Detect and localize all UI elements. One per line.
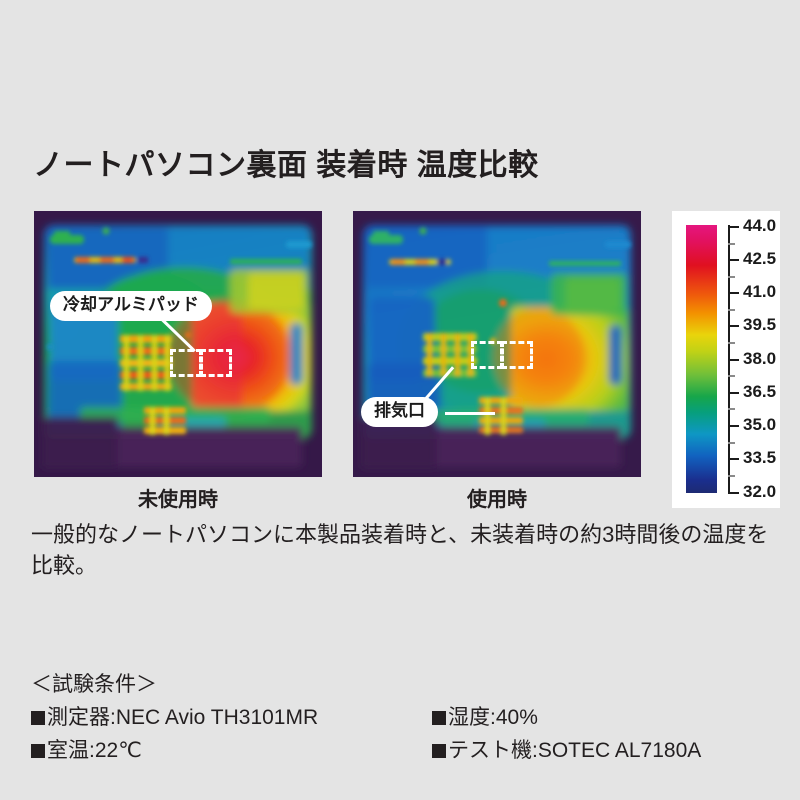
callout-exhaust-vent: 排気口: [361, 397, 438, 427]
scale-tick-38-0: [728, 359, 739, 361]
callout-cooling-pad: 冷却アルミパッド: [50, 291, 212, 321]
dashed-marker-in-use-a: [471, 341, 503, 369]
scale-tick-minor-b: [728, 276, 735, 278]
scale-label-6: 35.0: [743, 415, 776, 435]
scale-label-1: 42.5: [743, 249, 776, 269]
test-conditions-heading: ＜試験条件＞: [31, 668, 781, 698]
scale-label-4: 38.0: [743, 349, 776, 369]
condition-item-test-machine: テスト機:SOTEC AL7180A: [432, 734, 701, 764]
bullet-square-icon: [432, 744, 446, 758]
dashed-marker-in-use-b: [501, 341, 533, 369]
scale-tick-minor-h: [728, 475, 735, 477]
callout-cooling-pad-label: 冷却アルミパッド: [63, 295, 199, 314]
scale-tick-minor-e: [728, 375, 735, 377]
scale-label-0: 44.0: [743, 216, 776, 236]
condition-label-2: 湿度:40%: [448, 706, 538, 729]
scale-tick-33-5: [728, 458, 739, 460]
scale-label-3: 39.5: [743, 315, 776, 335]
condition-label-3: テスト機:SOTEC AL7180A: [448, 739, 701, 762]
scale-color-gradient: [686, 225, 717, 493]
scale-label-2: 41.0: [743, 282, 776, 302]
thermal-image-unused: 冷却アルミパッド: [34, 211, 322, 477]
condition-label-0: 測定器:NEC Avio TH3101MR: [47, 706, 318, 729]
dashed-marker-unused-b: [200, 349, 232, 377]
page-root: ノートパソコン裏面 装着時 温度比較: [0, 0, 800, 800]
condition-item-room-temp: 室温:22℃: [31, 734, 142, 764]
condition-item-humidity: 湿度:40%: [432, 701, 538, 731]
scale-tick-42-5: [728, 259, 739, 261]
thermal-image-in-use: 排気口: [353, 211, 641, 477]
scale-label-8: 32.0: [743, 482, 776, 502]
comparison-description: 一般的なノートパソコンに本製品装着時と、未装着時の約3時間後の温度を比較。: [31, 519, 771, 581]
thermal-heatmap-unused: [34, 211, 322, 477]
scale-tick-32-0: [728, 492, 739, 494]
caption-unused: 未使用時: [34, 483, 322, 512]
test-conditions: ＜試験条件＞ 測定器:NEC Avio TH3101MR 室温:22℃ 湿度:4…: [31, 668, 781, 767]
scale-tick-41-0: [728, 292, 739, 294]
scale-tick-39-5: [728, 325, 739, 327]
scale-tick-minor-f: [728, 408, 735, 410]
caption-in-use: 使用時: [353, 483, 641, 512]
scale-tick-minor-a: [728, 243, 735, 245]
dashed-marker-unused-a: [170, 349, 202, 377]
test-conditions-grid: 測定器:NEC Avio TH3101MR 室温:22℃ 湿度:40% テスト機…: [31, 701, 781, 767]
scale-tick-35-0: [728, 425, 739, 427]
bullet-square-icon: [432, 711, 446, 725]
condition-label-1: 室温:22℃: [47, 739, 142, 762]
bullet-square-icon: [31, 711, 45, 725]
scale-label-5: 36.5: [743, 382, 776, 402]
scale-tick-minor-g: [728, 442, 735, 444]
scale-tick-44-0: [728, 226, 739, 228]
scale-label-7: 33.5: [743, 448, 776, 468]
scale-tick-minor-d: [728, 342, 735, 344]
callout-exhaust-vent-label: 排気口: [374, 401, 425, 420]
page-title: ノートパソコン裏面 装着時 温度比較: [33, 140, 539, 184]
temperature-scale-legend: 44.0 42.5 41.0 39.5 38.0 36.5 35.0 33.5 …: [672, 211, 780, 508]
condition-item-measuring-device: 測定器:NEC Avio TH3101MR: [31, 701, 318, 731]
scale-tick-minor-c: [728, 309, 735, 311]
bullet-square-icon: [31, 744, 45, 758]
scale-tick-36-5: [728, 392, 739, 394]
callout-leader-vent-lower: [445, 412, 495, 415]
